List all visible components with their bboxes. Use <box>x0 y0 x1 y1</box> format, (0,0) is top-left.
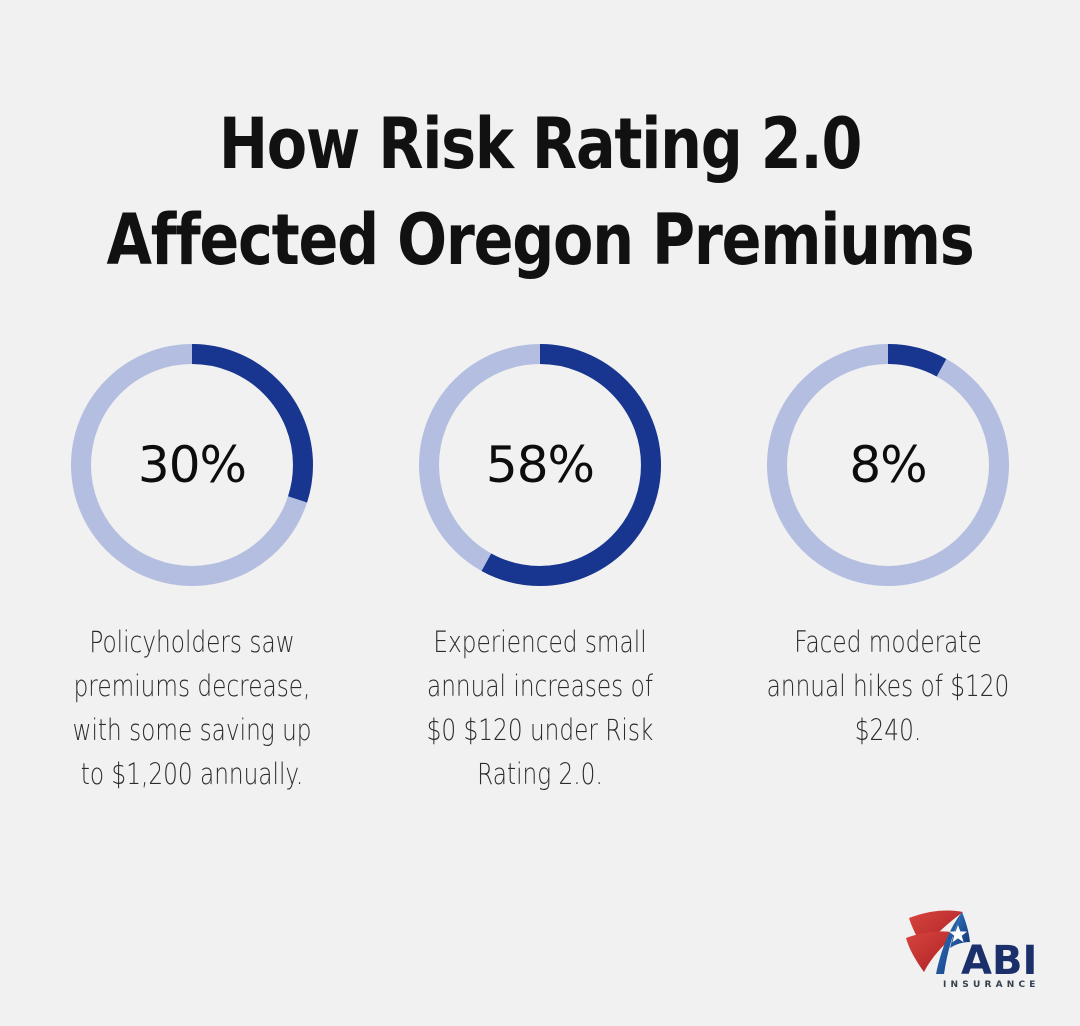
infographic-canvas: How Risk Rating 2.0 Affected Oregon Prem… <box>0 0 1080 1026</box>
stat-caption-2: Experienced small annual increases of $0… <box>412 620 668 796</box>
page-title-line-2: Affected Oregon Premiums <box>86 192 993 288</box>
stats-row: 30% Policyholders saw premiums decrease,… <box>0 340 1080 796</box>
logo-wordmark: ABI <box>961 938 1037 984</box>
page-title: How Risk Rating 2.0 Affected Oregon Prem… <box>0 96 1080 288</box>
donut-value-3: 8% <box>763 340 1013 590</box>
stat-caption-3: Faced moderate annual hikes of $120 $240… <box>760 620 1016 752</box>
logo-tagline: INSURANCE <box>943 980 1040 990</box>
donut-chart-2: 58% <box>415 340 665 590</box>
stat-column-1: 30% Policyholders saw premiums decrease,… <box>18 340 366 796</box>
stat-column-3: 8% Faced moderate annual hikes of $120 $… <box>714 340 1062 752</box>
donut-chart-1: 30% <box>67 340 317 590</box>
donut-chart-3: 8% <box>763 340 1013 590</box>
donut-value-1: 30% <box>67 340 317 590</box>
page-title-line-1: How Risk Rating 2.0 <box>86 96 993 192</box>
stat-caption-1: Policyholders saw premiums decrease, wit… <box>64 620 320 796</box>
stat-column-2: 58% Experienced small annual increases o… <box>366 340 714 796</box>
abi-logo-svg: ABI INSURANCE <box>903 898 1069 990</box>
donut-value-2: 58% <box>415 340 665 590</box>
abi-insurance-logo: ABI INSURANCE <box>903 898 1069 990</box>
